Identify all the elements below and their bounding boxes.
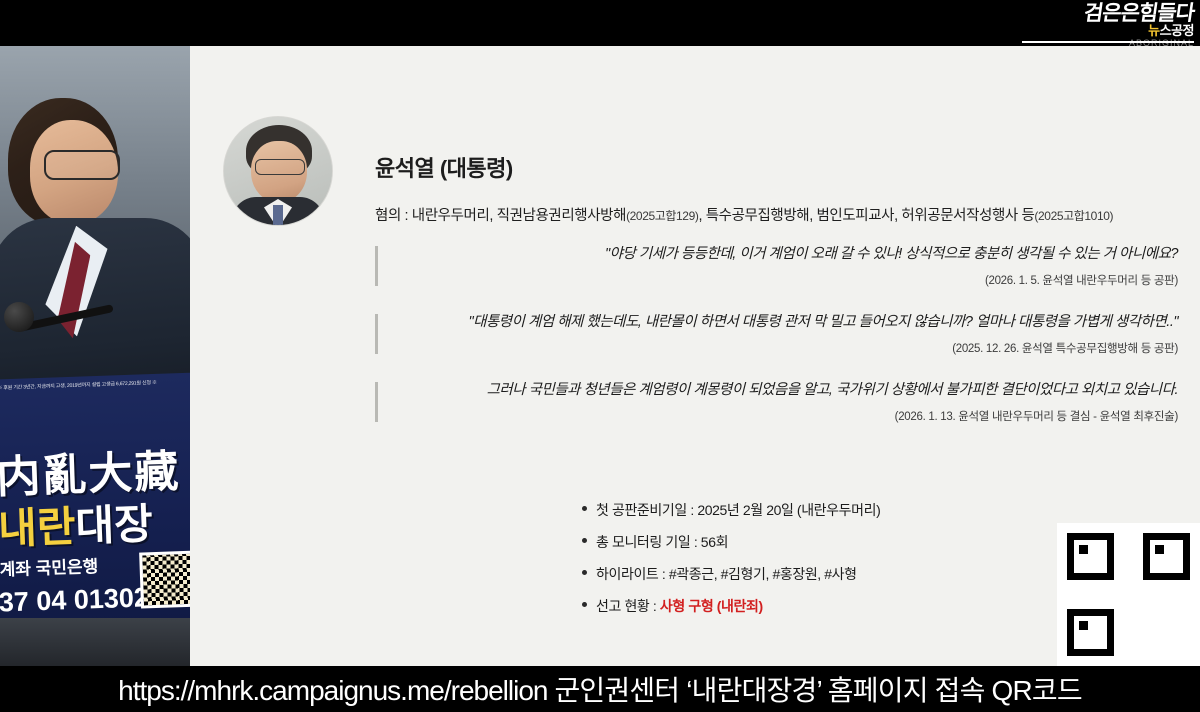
quote-text: "야당 기세가 등등한데, 이거 계엄이 오래 갈 수 있나! 상식적으로 충분… [388,244,1178,265]
camera-desk [0,618,190,666]
quote-item: 그러나 국민들과 청년들은 계엄령이 계몽령이 되었음을 알고, 국가위기 상황… [375,380,1178,424]
presentation-slide: 윤석열 (대통령) 혐의 : 내란우두머리, 직권남용권리행사방해(2025고합… [190,46,1200,666]
quote-source: (2026. 1. 13. 윤석열 내란우두머리 등 결심 - 윤석열 최후진술… [388,408,1178,424]
bullet-item-monitoring-count: 총 모니터링 기일 : 56회 [580,532,880,552]
bullet-item-highlights: 하이라이트 : #곽종근, #김형기, #홍장원, #사형 [580,564,880,584]
logo-sub-text: 뉴스공정 [1014,24,1194,38]
quote-text: 그러나 국민들과 청년들은 계엄령이 계몽령이 되었음을 알고, 국가위기 상황… [388,380,1178,401]
bullet-item-first-hearing: 첫 공판준비기일 : 2025년 2월 20일 (내란우두머리) [580,500,880,520]
bullet-highlight: 사형 구형 (내란죄) [660,598,763,614]
bullet-text: 첫 공판준비기일 : 2025년 2월 20일 (내란우두머리) [596,502,880,518]
charge-body-2: , 특수공무집행방해, 범인도피교사, 허위공문서작성행사 등 [698,208,1034,224]
logo-sub-rest: 스공정 [1160,23,1194,38]
bullet-item-sentencing-status: 선고 현황 : 사형 구형 (내란죄) [580,596,880,616]
qr-eye-top-right [1143,533,1190,580]
quote-item: "대통령이 계엄 해제 했는데도, 내란몰이 하면서 대통령 관저 막 밀고 들… [375,312,1178,356]
quote-text: "대통령이 계엄 해제 했는데도, 내란몰이 하면서 대통령 관저 막 밀고 들… [388,312,1178,333]
banner-korean-white: 대장 [75,500,154,550]
logo-main-text: 검은은힘들다 [1014,2,1196,24]
speaker-camera-feed: ※ 후원 기간 3년간, 지금까지 고생, 2019년까지 설립 고생금 6,6… [0,46,190,666]
banner-korean-text: 내란대장 [0,488,190,556]
quote-source: (2025. 12. 26. 윤석열 특수공무집행방해 등 공판) [388,340,1178,356]
qr-eye-top-left [1067,533,1114,580]
banner-qr-icon [139,551,190,609]
bullet-text: 하이라이트 : #곽종근, #김형기, #홍장원, #사형 [596,566,857,582]
bullet-text: 선고 현황 : [596,598,660,614]
summary-bullet-list: 첫 공판준비기일 : 2025년 2월 20일 (내란우두머리) 총 모니터링 … [580,500,880,628]
speaker-glasses-icon [44,150,120,180]
portrait-glasses-icon [255,159,305,175]
caption-bar: https://mhrk.campaignus.me/rebellion 군인권… [0,666,1200,712]
banner-top-note: ※ 후원 기간 3년간, 지금까지 고생, 2019년까지 설립 고생금 6,6… [0,377,190,395]
logo-underline [1022,41,1194,43]
caption-text: https://mhrk.campaignus.me/rebellion 군인권… [118,669,1082,709]
qr-code-container[interactable] [1057,523,1200,666]
charge-case-number-1: (2025고합129) [626,209,698,223]
quote-list: "야당 기세가 등등한데, 이거 계엄이 오래 갈 수 있나! 상식적으로 충분… [375,244,1178,448]
charge-case-number-2: (2025고합1010) [1034,209,1113,223]
logo-sub-accent: 뉴 [1148,23,1159,38]
caption-url[interactable]: https://mhrk.campaignus.me/rebellion [118,675,547,706]
quote-item: "야당 기세가 등등한데, 이거 계엄이 오래 갈 수 있나! 상식적으로 충분… [375,244,1178,288]
broadcaster-logo: 검은은힘들다 뉴스공정 ABORIGINAL 1977-1907 [1014,0,1200,52]
charge-label: 혐의 : [375,208,412,224]
slide-title: 윤석열 (대통령) [375,151,513,183]
bullet-text: 총 모니터링 기일 : 56회 [596,534,728,550]
qr-eye-bottom-left [1067,609,1114,656]
subject-portrait-avatar [223,116,333,226]
caption-description: 군인권센터 ‘내란대장경’ 홈페이지 접속 QR코드 [547,675,1081,706]
charge-line: 혐의 : 내란우두머리, 직권남용권리행사방해(2025고합129), 특수공무… [375,206,1176,226]
charge-body-1: 내란우두머리, 직권남용권리행사방해 [412,208,626,224]
quote-source: (2026. 1. 5. 윤석열 내란우두머리 등 공판) [388,272,1178,288]
broadcast-frame: 검은은힘들다 뉴스공정 ABORIGINAL 1977-1907 ※ 후원 기간… [0,0,1200,712]
microphone-icon [4,302,34,332]
banner-korean-yellow: 내란 [0,503,76,553]
qr-code-image[interactable] [1067,533,1190,656]
